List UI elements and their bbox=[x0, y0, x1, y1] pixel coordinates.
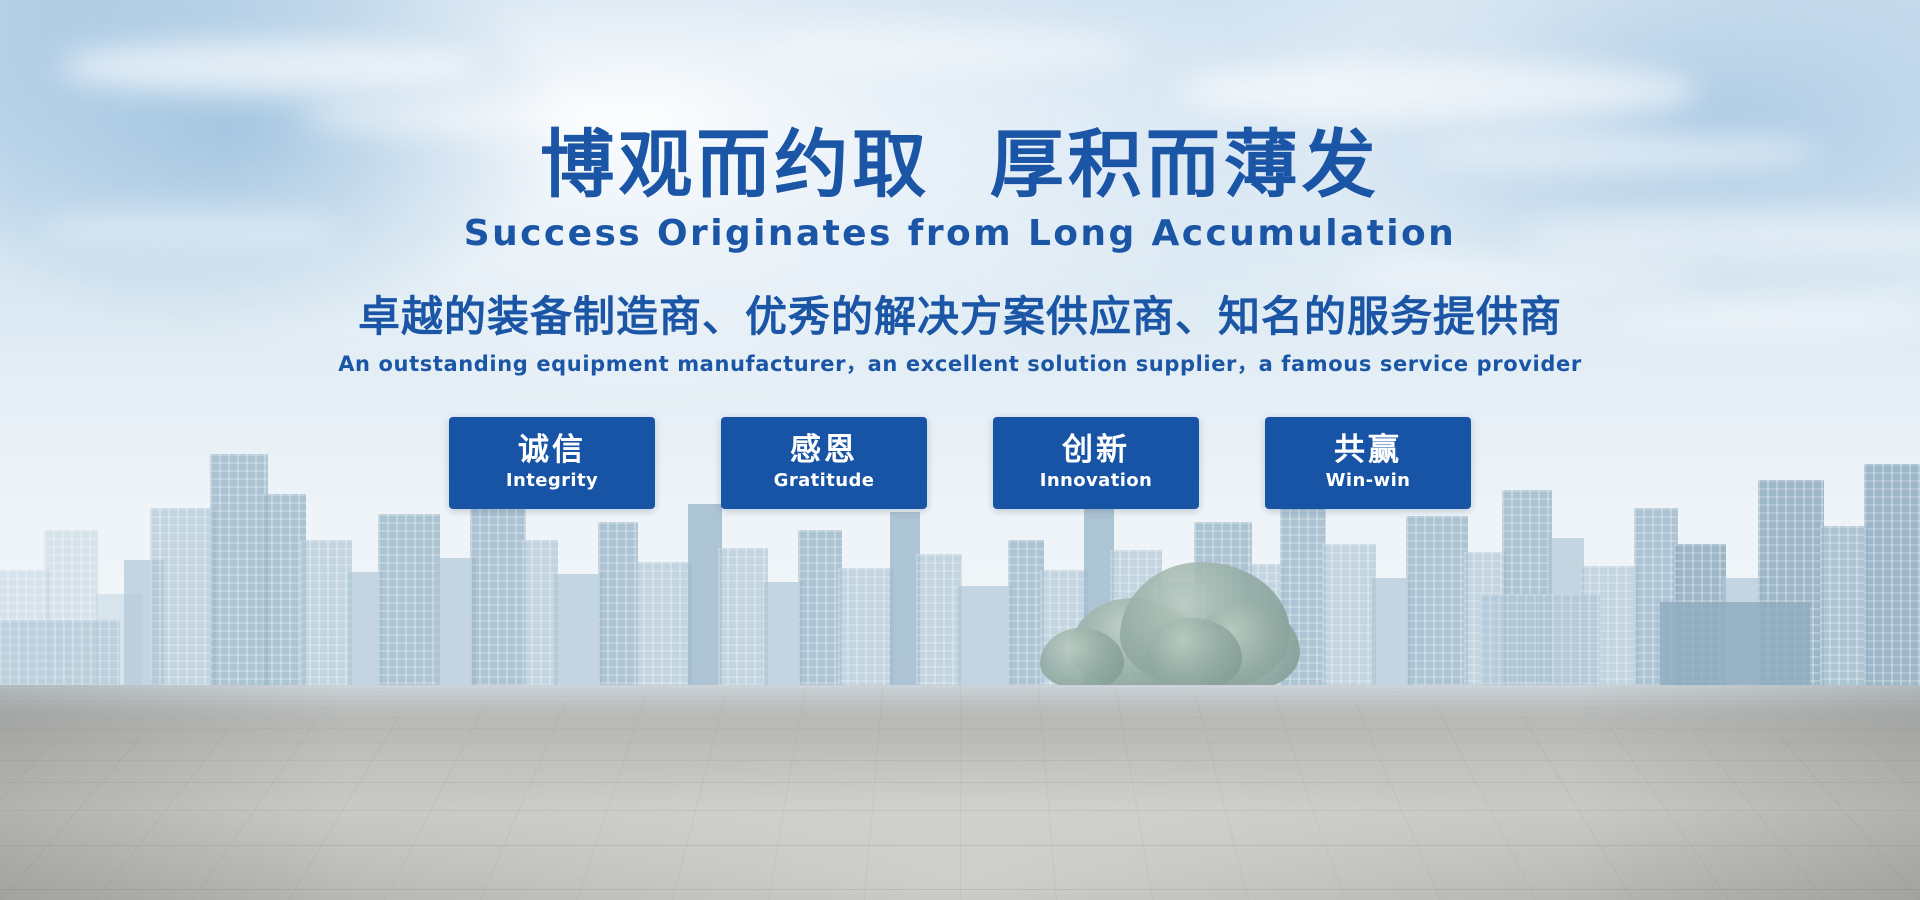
cloud bbox=[1340, 258, 1700, 294]
building-silhouette bbox=[838, 568, 894, 690]
cloud bbox=[1620, 300, 1920, 334]
plaza-ground bbox=[0, 685, 1920, 900]
building-silhouette bbox=[634, 562, 692, 690]
value-card-label-en: Innovation bbox=[1040, 467, 1153, 493]
building-silhouette bbox=[1372, 578, 1410, 690]
building-silhouette bbox=[0, 620, 120, 690]
building-silhouette bbox=[554, 574, 602, 690]
value-card-label-cn: 共赢 bbox=[1334, 434, 1402, 467]
cloud bbox=[300, 96, 630, 136]
building-silhouette bbox=[798, 530, 842, 690]
paving-line-vertical bbox=[960, 685, 961, 900]
building-silhouette bbox=[522, 540, 558, 690]
value-card-win-win[interactable]: 共赢Win-win bbox=[1265, 417, 1471, 509]
building-silhouette bbox=[916, 554, 962, 690]
building-silhouette bbox=[1864, 464, 1920, 690]
cloud bbox=[1180, 60, 1700, 122]
building-silhouette bbox=[718, 548, 768, 690]
building-silhouette bbox=[348, 572, 382, 690]
value-card-label-en: Gratitude bbox=[774, 467, 875, 493]
value-card-integrity[interactable]: 诚信Integrity bbox=[449, 417, 655, 509]
building-silhouette bbox=[688, 504, 722, 690]
value-card-label-cn: 感恩 bbox=[790, 434, 858, 467]
cloud bbox=[1420, 130, 1820, 174]
building-silhouette bbox=[210, 454, 268, 690]
building-silhouette bbox=[1322, 544, 1376, 690]
building-silhouette bbox=[958, 586, 1012, 690]
building-silhouette bbox=[150, 508, 216, 690]
building-silhouette bbox=[1008, 540, 1044, 690]
building-silhouette bbox=[378, 514, 440, 690]
value-card-label-en: Integrity bbox=[506, 467, 598, 493]
value-card-label-en: Win-win bbox=[1326, 467, 1411, 493]
value-card-gratitude[interactable]: 感恩Gratitude bbox=[721, 417, 927, 509]
building-silhouette bbox=[598, 522, 638, 690]
city-skyline bbox=[0, 380, 1920, 690]
building-silhouette bbox=[1480, 594, 1600, 690]
value-card-label-cn: 诚信 bbox=[518, 434, 586, 467]
building-silhouette bbox=[764, 582, 802, 690]
cloud bbox=[760, 28, 1140, 72]
value-card-innovation[interactable]: 创新Innovation bbox=[993, 417, 1199, 509]
cloud bbox=[40, 210, 340, 248]
building-silhouette bbox=[1406, 516, 1468, 690]
building-silhouette bbox=[470, 484, 526, 690]
building-silhouette bbox=[300, 540, 352, 690]
value-card-label-cn: 创新 bbox=[1062, 434, 1130, 467]
hero-banner: 博观而约取 厚积而薄发 Success Originates from Long… bbox=[0, 0, 1920, 900]
building-silhouette bbox=[1660, 602, 1810, 690]
cloud bbox=[60, 40, 480, 94]
building-silhouette bbox=[1820, 526, 1868, 690]
